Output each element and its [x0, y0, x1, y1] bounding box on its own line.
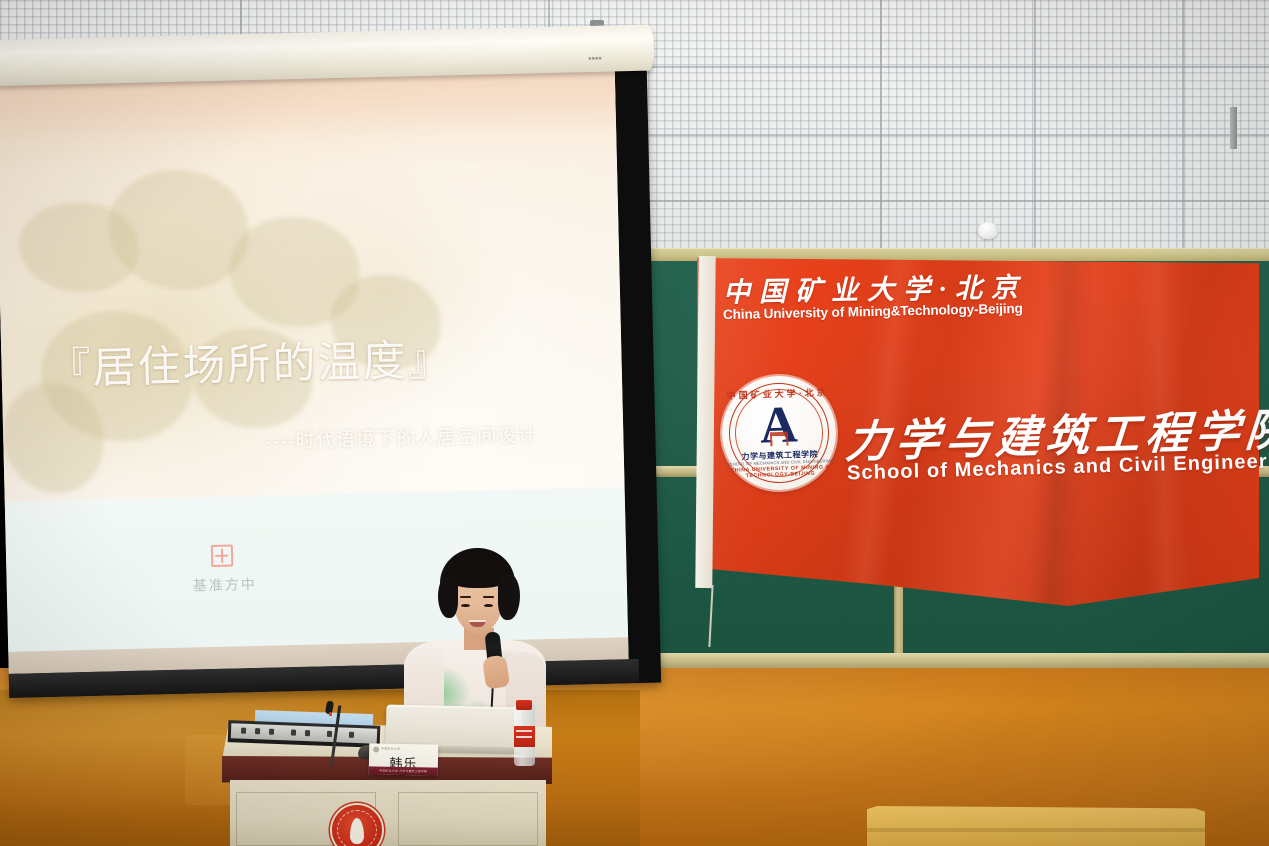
- seal-icon: [211, 545, 234, 568]
- presenter-hair-left: [438, 576, 458, 618]
- microphone-status-led: [329, 712, 332, 716]
- emblem-headframe-icon: [770, 432, 788, 447]
- banner-edge-strip: [695, 256, 715, 588]
- slide-logo-text: 基准方中: [193, 574, 257, 596]
- housing-brand-label: ■■■■: [588, 56, 602, 62]
- lecture-hall-scene: 中国矿业大学·北京 China University of Mining&Tec…: [0, 0, 1269, 846]
- presenter-hair-right: [498, 574, 520, 620]
- desk-edge: [867, 828, 1205, 832]
- nameplate-logo-text: 中国矿业大学: [381, 746, 400, 750]
- projection-screen: 『居住场所的温度』 ----时代语境下的人居空间设计 基准方中: [0, 31, 661, 698]
- ceiling-fitting-icon: [1230, 107, 1237, 149]
- bottle-cap: [516, 700, 532, 710]
- bottle-label: [514, 726, 535, 747]
- speaker-nameplate: 中国矿业大学 韩乐 中国矿业大学 力学与建筑工程学院: [369, 743, 439, 775]
- slide-title: 『居住场所的温度』: [47, 325, 453, 397]
- nameplate-logo-icon: [373, 746, 379, 752]
- university-emblem: 中国矿业大学·北京 A 力学与建筑工程学院 SCHOOL OF MECHANIC…: [720, 374, 838, 492]
- ceiling-speaker-icon: [978, 222, 998, 239]
- nameplate-affiliation: 中国矿业大学 力学与建筑工程学院: [369, 766, 438, 775]
- wooden-student-desk: [867, 806, 1205, 846]
